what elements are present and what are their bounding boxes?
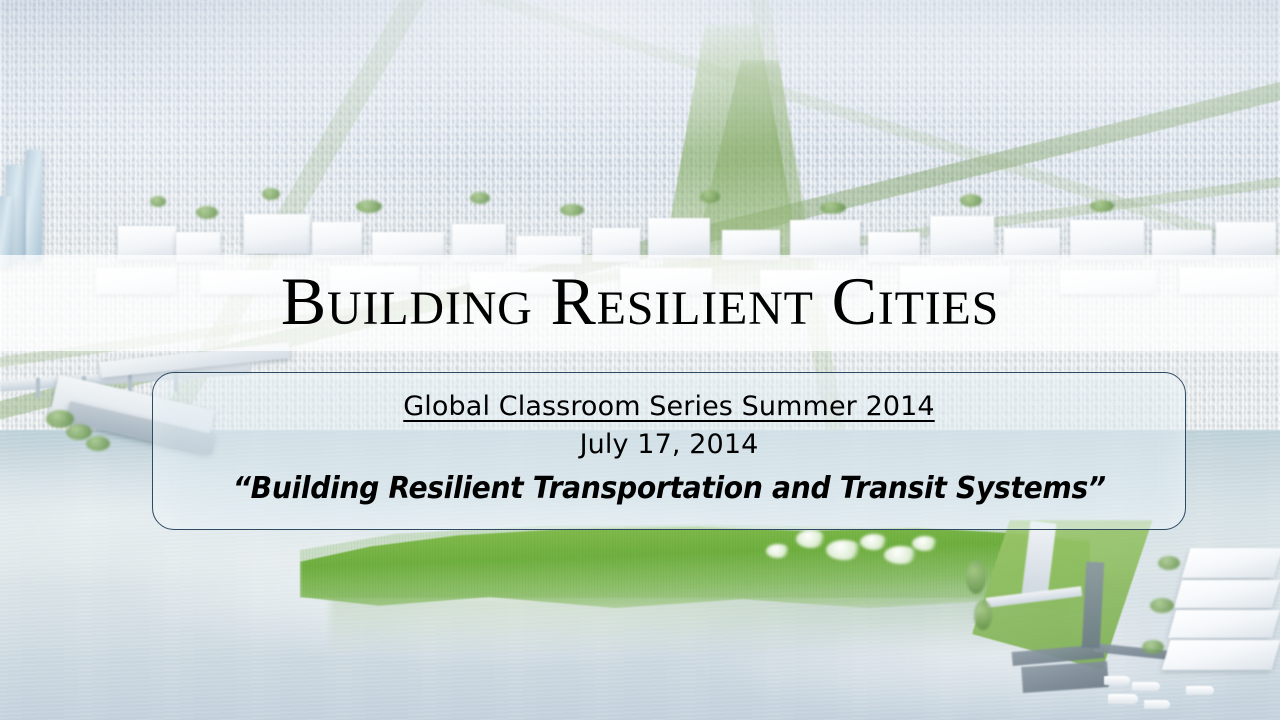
marsh-reflection: [330, 596, 1070, 656]
bridge-pillar: [36, 378, 40, 398]
moored-boat: [1186, 686, 1214, 695]
moored-boat: [1108, 694, 1138, 704]
marina-tree-cluster: [1158, 556, 1180, 570]
date-label: July 17, 2014: [580, 429, 759, 461]
title-band: Building Resilient Cities: [0, 255, 1280, 351]
page-title: Building Resilient Cities: [281, 267, 999, 339]
moored-boat: [1144, 700, 1170, 709]
tree-cluster: [1090, 200, 1114, 212]
series-label: Global Classroom Series Summer 2014: [403, 391, 934, 423]
topic-label: “Building Resilient Transportation and T…: [233, 471, 1106, 506]
pier-tree-cluster: [86, 436, 110, 451]
subtitle-box: Global Classroom Series Summer 2014 July…: [152, 372, 1186, 530]
tree-cluster: [356, 200, 382, 213]
waterfront-apartment-block: [1174, 580, 1280, 608]
tree-cluster: [960, 194, 982, 207]
tree-cluster: [470, 192, 490, 204]
tree-cluster: [560, 204, 584, 216]
tree-cluster: [262, 188, 280, 200]
tree-cluster: [196, 206, 218, 219]
flowering-shrub: [796, 530, 826, 548]
marina-tree-cluster: [974, 600, 992, 630]
flowering-shrub: [884, 546, 918, 564]
tree-cluster: [820, 202, 846, 214]
flowering-shrub: [912, 536, 938, 551]
marina-tree-cluster: [1142, 640, 1164, 654]
flowering-shrub: [826, 540, 862, 560]
flowering-shrub: [860, 534, 888, 550]
waterfront-apartment-block: [1162, 640, 1280, 670]
flowering-shrub: [766, 544, 790, 558]
moored-boat: [1132, 682, 1160, 691]
waterfront-apartment-block: [1168, 610, 1280, 638]
presentation-slide: Building Resilient Cities Global Classro…: [0, 0, 1280, 720]
moored-boat: [1104, 676, 1130, 685]
marina-tree-cluster: [1150, 598, 1174, 613]
tree-cluster: [150, 196, 166, 207]
marina-tree-cluster: [966, 560, 986, 594]
waterfront-apartment-block: [1182, 548, 1280, 578]
tree-cluster: [700, 190, 720, 203]
